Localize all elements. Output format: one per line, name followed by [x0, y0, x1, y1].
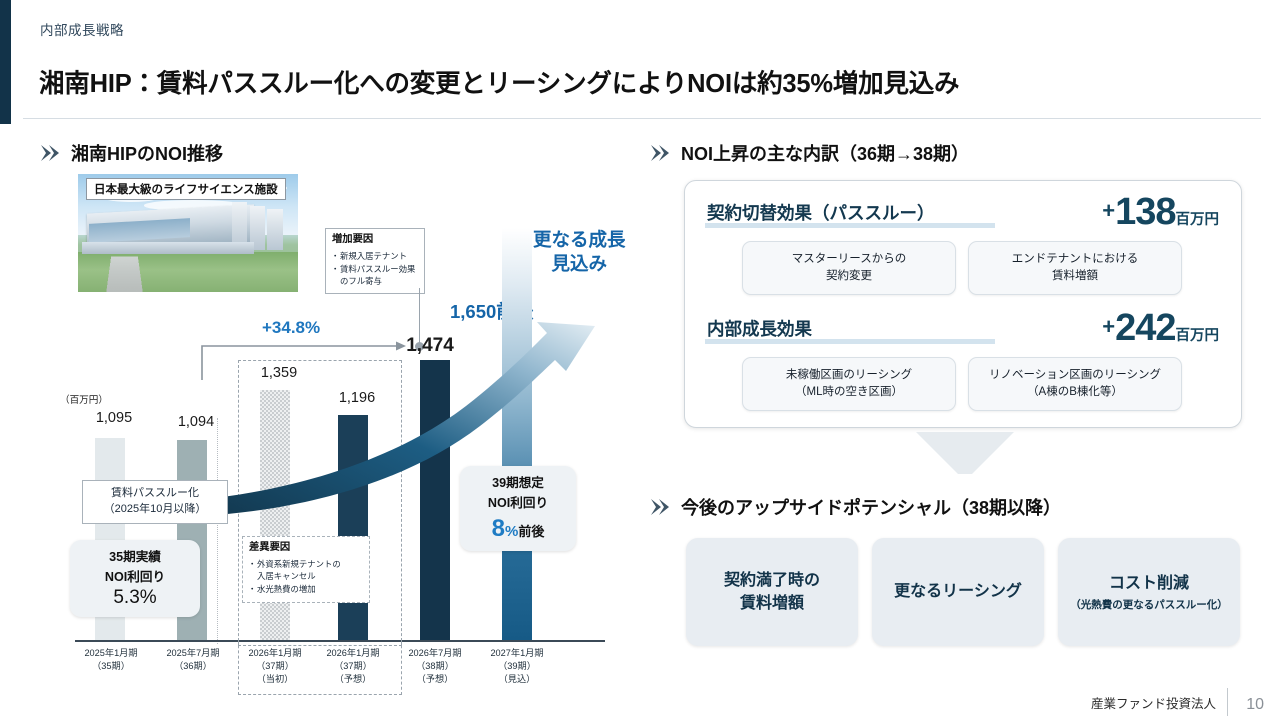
yield-callout-35ki: 35期実績 NOI利回り 5.3% [70, 540, 200, 617]
yield-39ki-value-row: 8%前後 [470, 515, 566, 543]
section-heading-noi-trend: 湘南HIPのNOI推移 [40, 140, 223, 166]
upside-chip-2-main: 更なるリーシング [894, 583, 1022, 600]
yield-39ki-value: 8 [492, 515, 505, 542]
bar-value-1095: 1,095 [77, 410, 151, 426]
eyebrow-label: 内部成長戦略 [40, 19, 124, 39]
passthrough-callout: 賃料パススルー化 （2025年10月以降） [82, 480, 228, 524]
increase-factor-note: 増加要因 新規入居テナント 賃料パススルー効果 のフル寄与 [325, 228, 425, 294]
variance-factor-item: 水光熱費の増加 [249, 583, 364, 595]
increase-factor-title: 増加要因 [332, 233, 419, 248]
variance-factor-note: 差異要因 外資系新規テナントの 入居キャンセル 水光熱費の増加 [242, 536, 370, 603]
upside-chip-3-sub: （光熱費の更なるパススルー化） [1070, 597, 1228, 612]
noi-trend-chart: 日本最大級のライフサイエンス施設 増加要因 新規入居テナント 賃料パススルー効果… [20, 170, 640, 690]
upside-chip-2: 更なるリーシング [872, 538, 1044, 646]
section-heading-upside-label: 今後のアップサイドポテンシャル（38期以降） [681, 494, 1061, 520]
yield-39ki-line1: 39期想定 [470, 474, 566, 494]
chevron-right-icon [40, 144, 60, 162]
yield-35ki-value: 5.3% [80, 587, 190, 609]
effect-2-unit: 百万円 [1176, 328, 1220, 344]
effect-2-chip-1: 未稼働区画のリーシング （ML時の空き区画） [742, 357, 956, 411]
title-divider [23, 118, 1261, 119]
bar-value-1474: 1,474 [390, 335, 470, 357]
increase-factor-item: 新規入居テナント [332, 250, 419, 262]
footer-divider [1227, 688, 1228, 716]
bar-39ki-expected [502, 228, 532, 640]
section-heading-noi-trend-label: 湘南HIPのNOI推移 [71, 140, 223, 166]
effect-2-title: 内部成長効果 [707, 316, 812, 341]
slide-root: 内部成長戦略 湘南HIP：賃料パススルー化への変更とリーシングによりNOIは約3… [0, 0, 1280, 720]
photo-podium [82, 242, 254, 254]
upside-chip-1-main: 契約満了時の 賃料増額 [724, 572, 820, 612]
effect-1-chip-2: エンドテナントにおける 賃料増額 [968, 241, 1182, 295]
effect-2-chip-2: リノベーション区画のリーシング （A棟のB棟化等） [968, 357, 1182, 411]
further-growth-label: 更なる成長 見込み [533, 228, 626, 275]
bar-value-1094: 1,094 [159, 414, 233, 430]
upside-chip-2-text: 更なるリーシング [894, 580, 1022, 603]
upside-chip-1-text: 契約満了時の 賃料増額 [724, 569, 820, 615]
bar-38ki-forecast [420, 360, 450, 640]
chevron-right-icon [650, 498, 670, 516]
variance-factor-list: 外資系新規テナントの 入居キャンセル 水光熱費の増加 [249, 558, 364, 596]
variance-factor-title: 差異要因 [249, 541, 364, 556]
left-accent-bar [0, 0, 11, 124]
section-heading-upside: 今後のアップサイドポテンシャル（38期以降） [650, 494, 1061, 520]
section-heading-noi-breakdown-label: NOI上昇の主な内訳（36期→38期） [681, 140, 969, 166]
effect-1-underline [705, 223, 995, 228]
facility-photo-caption: 日本最大級のライフサイエンス施設 [86, 178, 286, 200]
photo-road [106, 257, 143, 292]
upside-chip-3-main: コスト削減 [1109, 575, 1189, 592]
variance-factor-item: 外資系新規テナントの 入居キャンセル [249, 558, 364, 582]
bar-value-1359: 1,359 [242, 365, 316, 381]
bar-37ki-forecast [338, 415, 368, 640]
yield-39ki-suffix: 前後 [518, 524, 544, 539]
effect-2-amount: +242百万円 [1102, 307, 1219, 350]
scenario-dotted-line [217, 418, 218, 644]
upside-chip-1: 契約満了時の 賃料増額 [686, 538, 858, 646]
chevron-right-icon [650, 144, 670, 162]
growth-percent-label: +34.8% [262, 318, 320, 338]
bar-value-1196: 1,196 [320, 390, 394, 406]
yield-39ki-line2: NOI利回り [470, 494, 566, 514]
yield-callout-39ki: 39期想定 NOI利回り 8%前後 [460, 466, 576, 551]
effect-2-number: 242 [1115, 307, 1175, 349]
section-heading-noi-breakdown: NOI上昇の主な内訳（36期→38期） [650, 140, 969, 166]
effect-1-number: 138 [1115, 191, 1175, 233]
xtick-36ki: 2025年7月期 （36期） [154, 647, 232, 673]
increase-factor-item: 賃料パススルー効果 のフル寄与 [332, 263, 419, 287]
effect-1-title: 契約切替効果（パススルー） [707, 200, 935, 225]
effect-1-chip-1: マスターリースからの 契約変更 [742, 241, 956, 295]
upside-chip-3: コスト削減 （光熱費の更なるパススルー化） [1058, 538, 1240, 646]
footer-company: 産業ファンド投資法人 [1091, 693, 1216, 712]
noi-breakdown-panel: 契約切替効果（パススルー） +138百万円 マスターリースからの 契約変更 エン… [684, 180, 1242, 428]
photo-tower [267, 209, 282, 249]
xtick-39ki: 2027年1月期 （39期） （見込） [478, 647, 556, 686]
footer-page-number: 10 [1246, 696, 1264, 714]
effect-1-amount: +138百万円 [1102, 191, 1219, 234]
xtick-38ki: 2026年7月期 （38期） （予想） [396, 647, 474, 686]
upside-chip-3-text: コスト削減 （光熱費の更なるパススルー化） [1070, 572, 1228, 611]
yield-35ki-line2: NOI利回り [80, 568, 190, 588]
xtick-35ki: 2025年1月期 （35期） [72, 647, 150, 673]
effect-1-unit: 百万円 [1176, 212, 1220, 228]
chart-units-label: （百万円） [60, 392, 108, 406]
yield-39ki-unit: % [505, 523, 518, 540]
page-title: 湘南HIP：賃料パススルー化への変更とリーシングによりNOIは約35%増加見込み [39, 63, 959, 100]
yield-35ki-line1: 35期実績 [80, 548, 190, 568]
increase-factor-list: 新規入居テナント 賃料パススルー効果 のフル寄与 [332, 250, 419, 288]
effect-2-underline [705, 339, 995, 344]
scenario-dashed-region-bottom [238, 640, 402, 695]
effect-2-plus: + [1102, 314, 1115, 339]
effect-1-plus: + [1102, 198, 1115, 223]
down-arrow-icon [910, 430, 1020, 476]
